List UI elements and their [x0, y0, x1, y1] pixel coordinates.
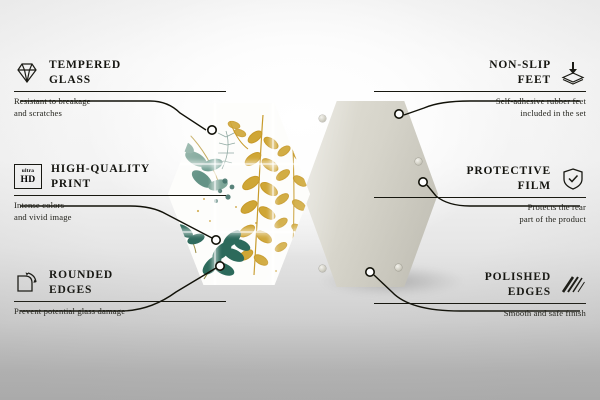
rubber-foot [319, 265, 326, 272]
shield-check-icon [560, 166, 586, 192]
feature-title: TEMPERED GLASS [49, 58, 121, 87]
divider [14, 301, 226, 302]
feature-title: NON-SLIP FEET [489, 58, 551, 87]
divider [374, 91, 586, 92]
feature-description: Resistant to breakage and scratches [14, 96, 226, 119]
rounded-corner-icon [14, 270, 40, 296]
feature-non-slip-feet: NON-SLIP FEET Self-adhesive rubber feet … [374, 58, 586, 119]
infographic-canvas: TEMPERED GLASS Resistant to breakage and… [0, 0, 600, 400]
divider [374, 197, 586, 198]
feature-title: POLISHED EDGES [485, 270, 551, 299]
diamond-icon [14, 60, 40, 86]
divider [374, 303, 586, 304]
feature-title: HIGH-QUALITY PRINT [51, 162, 150, 191]
divider [14, 195, 226, 196]
feature-high-quality-print: ultra HD HIGH-QUALITY PRINT Intense colo… [14, 162, 226, 223]
feature-title: PROTECTIVE FILM [466, 164, 551, 193]
ultra-hd-icon: ultra HD [14, 164, 42, 189]
feature-rounded-edges: ROUNDED EDGES Prevent potential glass da… [14, 268, 226, 318]
feature-protective-film: PROTECTIVE FILM Protects the rear part o… [374, 164, 586, 225]
diagonal-lines-icon [560, 272, 586, 298]
feature-description: Smooth and safe finish [374, 308, 586, 319]
feature-polished-edges: POLISHED EDGES Smooth and safe finish [374, 270, 586, 320]
rubber-foot [319, 115, 326, 122]
divider [14, 91, 226, 92]
feature-description: Protects the rear part of the product [374, 202, 586, 225]
feature-description: Self-adhesive rubber feet included in th… [374, 96, 586, 119]
press-down-foot-icon [560, 60, 586, 86]
feature-title: ROUNDED EDGES [49, 268, 113, 297]
feature-description: Prevent potential glass damage [14, 306, 226, 317]
feature-tempered-glass: TEMPERED GLASS Resistant to breakage and… [14, 58, 226, 119]
feature-description: Intense colors and vivid image [14, 200, 226, 223]
